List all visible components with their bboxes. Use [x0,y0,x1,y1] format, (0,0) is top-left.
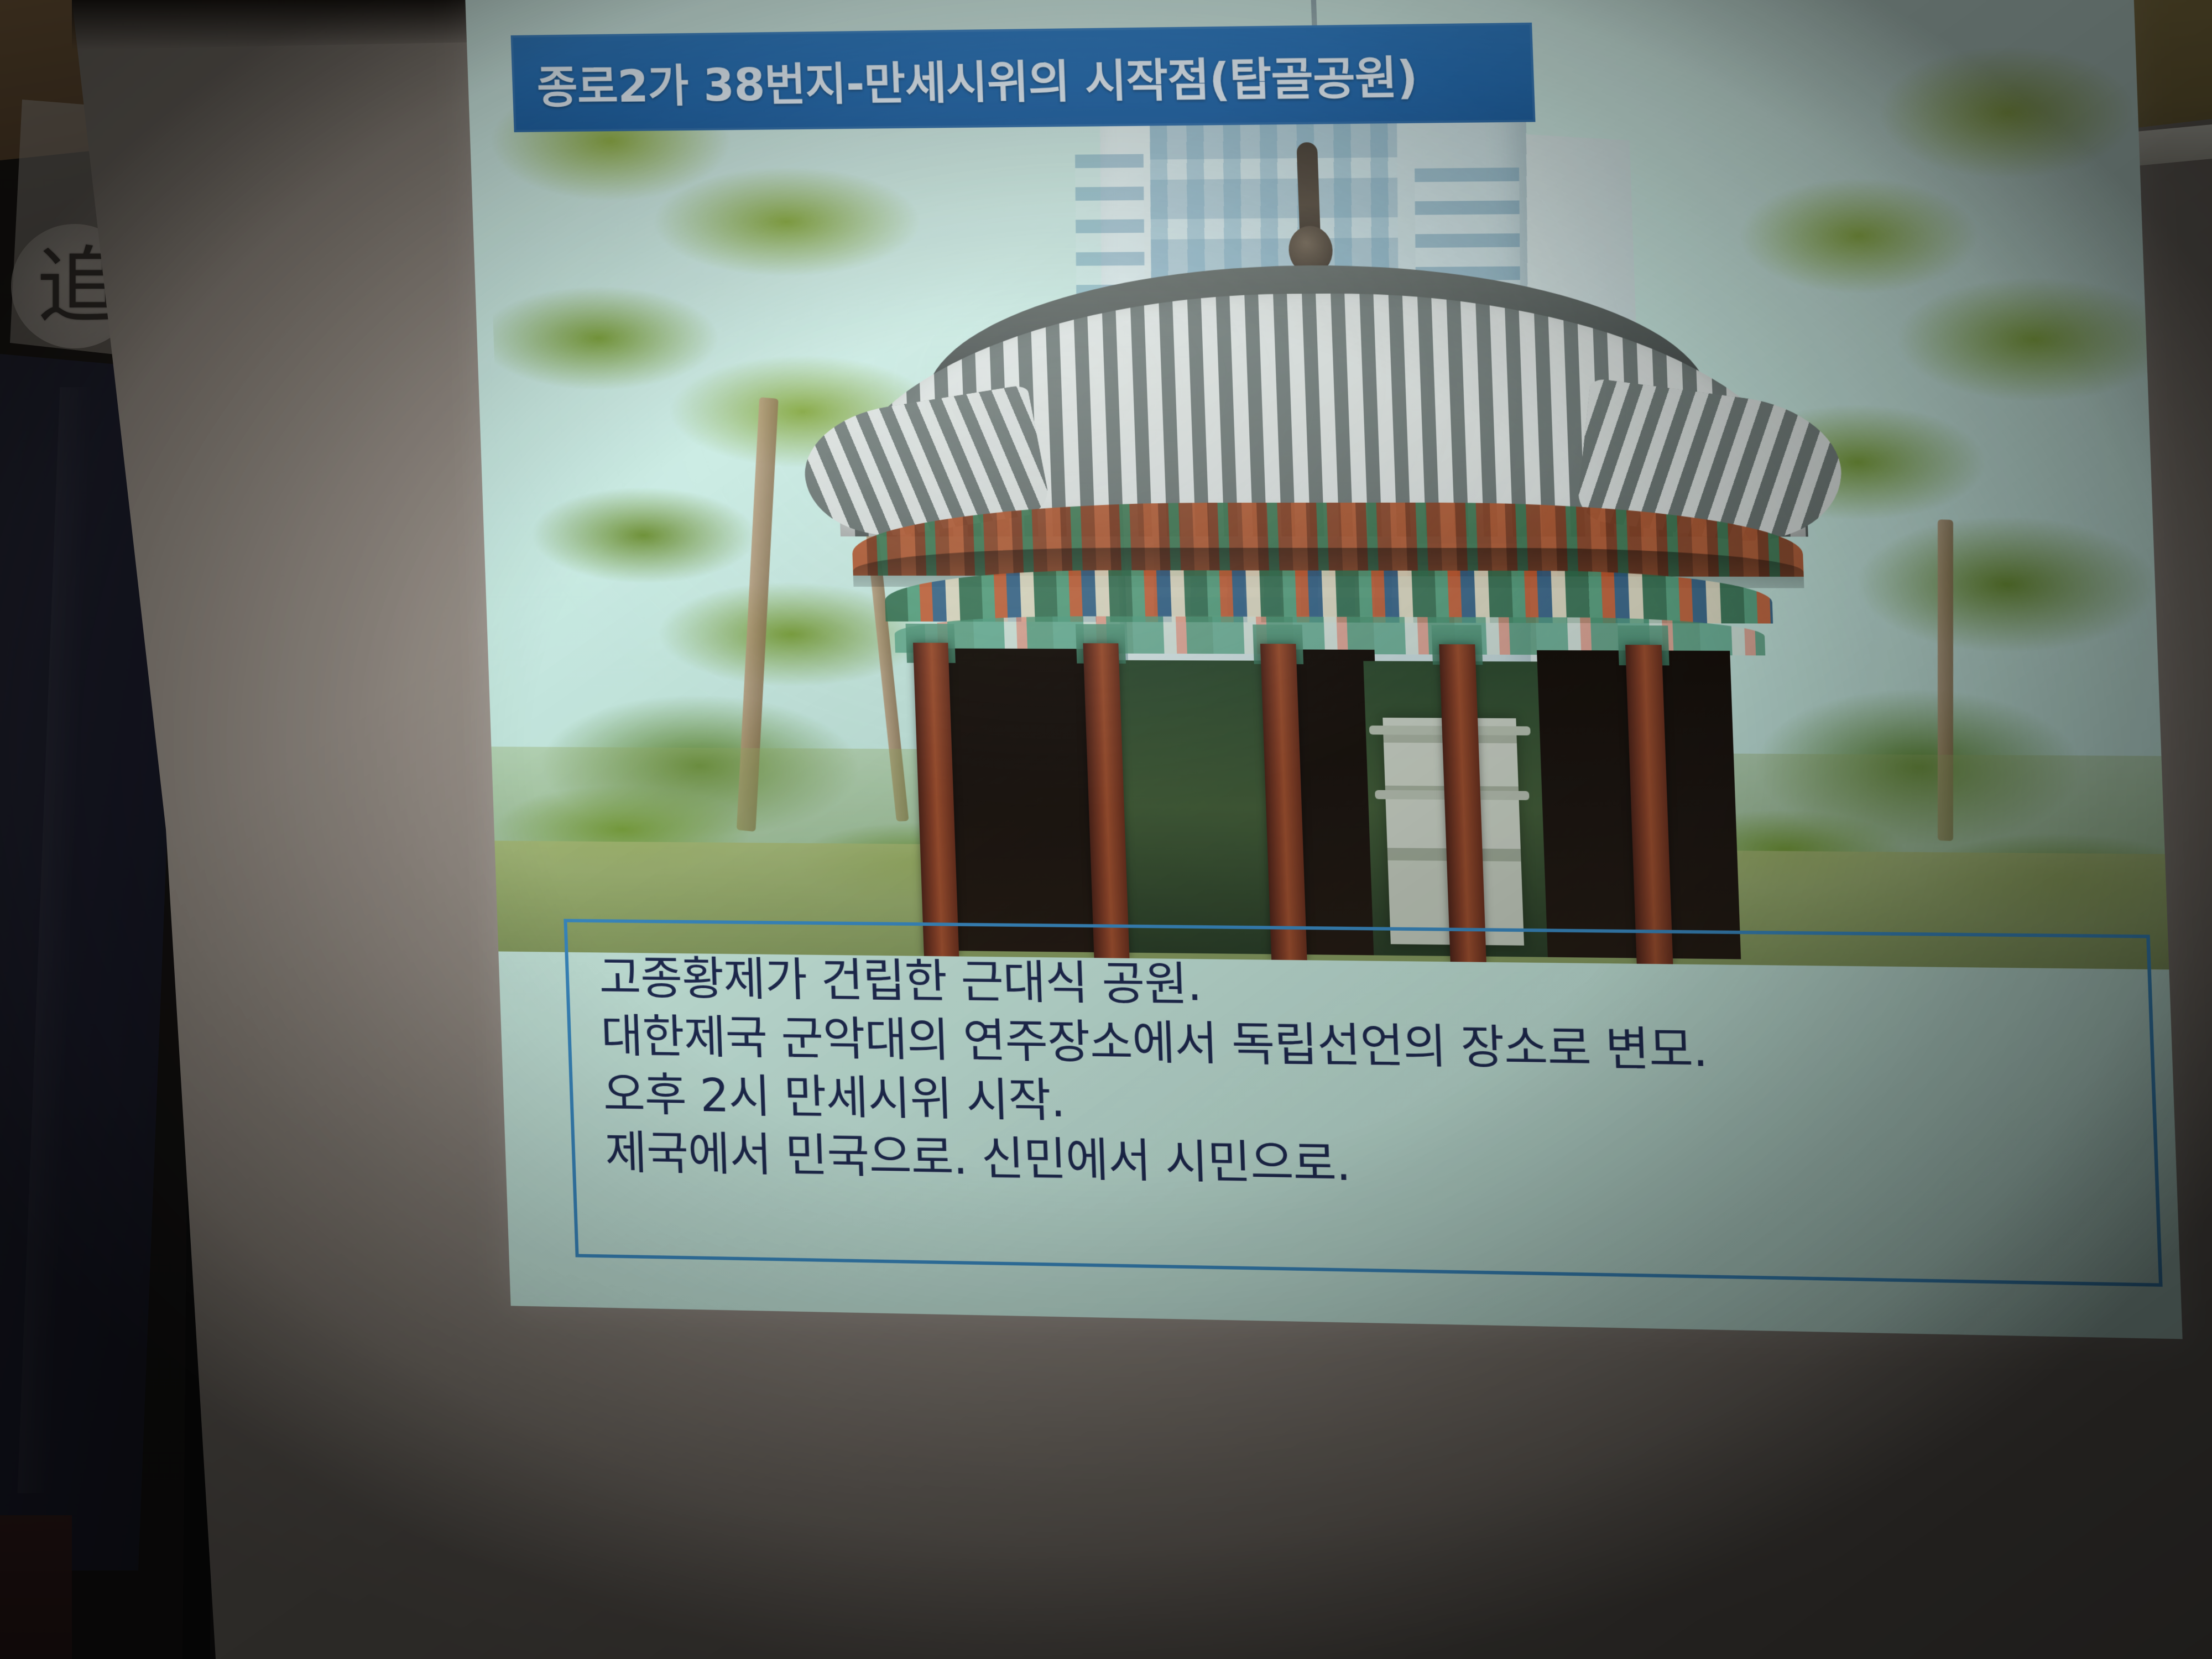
octagonal-pavilion [816,148,1836,966]
slide-title: 종로2가 38번지-만세시위의 시작점(탑골공원) [512,41,1418,116]
slide-title-bar: 종로2가 38번지-만세시위의 시작점(탑골공원) [511,23,1536,132]
door-frame [0,1515,72,1659]
slide-photograph [465,0,2169,969]
slide-caption-box: 고종황제가 건립한 근대식 공원. 대한제국 군악대의 연주장소에서 독립선언의… [564,919,2162,1287]
photo-scene: 追 [0,0,2212,1659]
projected-slide-area: 종로2가 38번지-만세시위의 시작점(탑골공원) 고종황제가 건립한 근대식 … [465,0,2183,1339]
dancheong-painted-band [884,570,1773,624]
presentation-slide: 종로2가 38번지-만세시위의 시작점(탑골공원) 고종황제가 건립한 근대식 … [465,0,2183,1339]
